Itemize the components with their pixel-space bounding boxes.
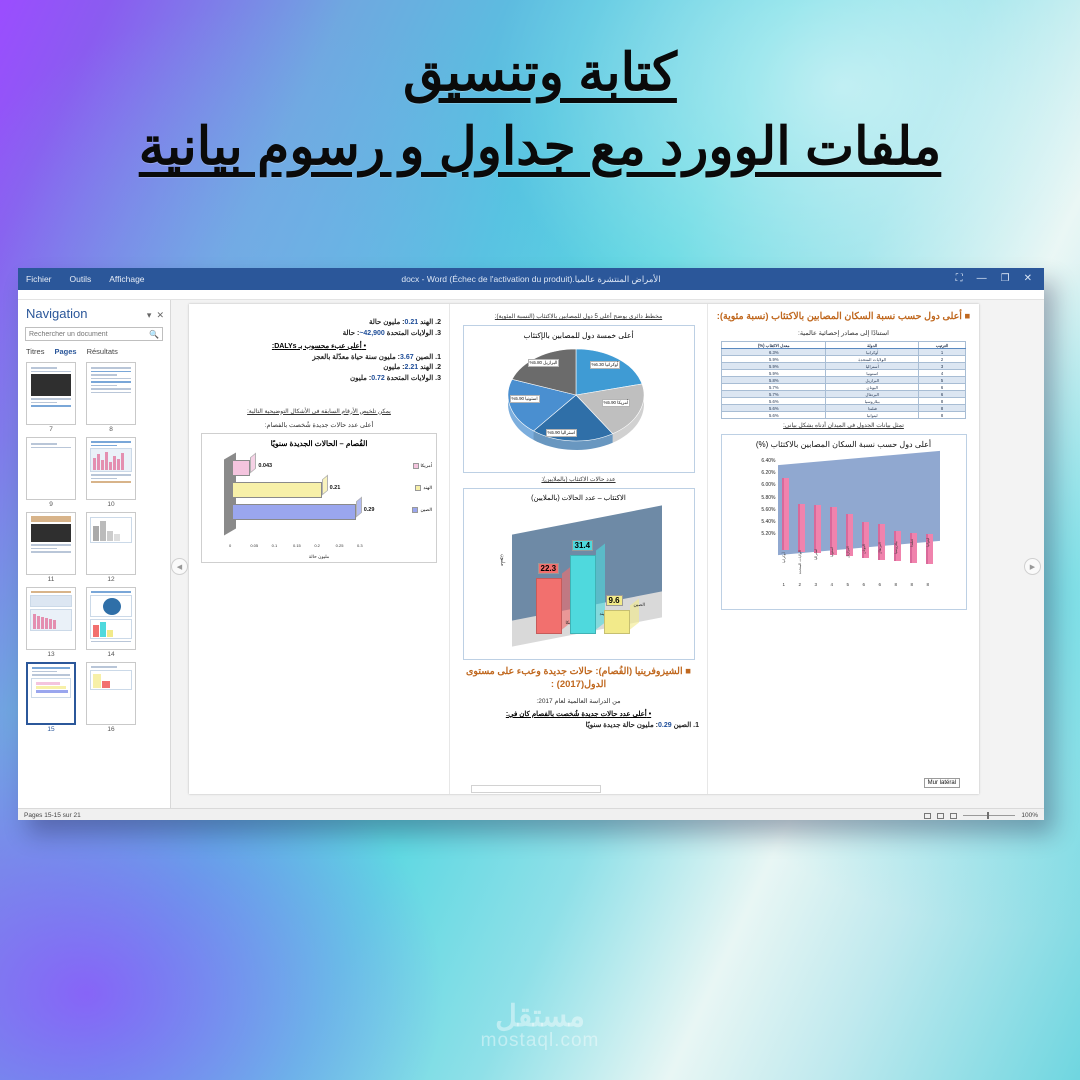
- pie-data-label: استونيا 5.90%: [510, 395, 540, 403]
- search-input[interactable]: [29, 331, 149, 338]
- x-axis-rank-label: 6: [879, 582, 882, 587]
- watermark-arabic: مستقل: [0, 999, 1080, 1034]
- x-axis-category-label: أوكرانيا: [782, 552, 786, 578]
- y-axis-tick-label: 5.20%: [738, 531, 776, 537]
- status-bar: Pages 15-15 sur 21 100%: [18, 808, 1044, 820]
- legend-label: الهند: [423, 485, 432, 491]
- legend-item: أمريكا: [413, 463, 433, 469]
- thumbnail-item-selected[interactable]: 15: [26, 662, 76, 733]
- caption-pie: مخطط دائري يوضح أعلى 5 دول للمصابين بالا…: [458, 313, 699, 320]
- pie-data-label: استراليا 5.90%: [546, 429, 578, 437]
- x-axis-rank-label: 1: [783, 582, 786, 587]
- close-pane-icon[interactable]: ✕: [156, 310, 164, 321]
- thumbnail-item[interactable]: 16: [86, 662, 136, 733]
- table-cell: 1: [919, 349, 966, 356]
- print-layout-view-icon[interactable]: [924, 813, 931, 819]
- document-column-middle: مخطط دائري يوضح أعلى 5 دول للمصابين بالا…: [449, 304, 707, 794]
- thumbnail-page-number: 7: [26, 426, 76, 433]
- table-row: 1أوكرانيا6.3%: [722, 349, 966, 356]
- x-axis-category-label: اليونان: [862, 544, 866, 570]
- thumbnail-page-number: 12: [86, 576, 136, 583]
- page-count-status: Pages 15-15 sur 21: [24, 812, 81, 819]
- menu-item-fichier[interactable]: Fichier: [26, 274, 52, 284]
- bullet-new-cases: • أعلى عدد حالات جديدة شُخصت بالفصام كان…: [458, 710, 699, 718]
- read-mode-view-icon[interactable]: [950, 813, 957, 819]
- table-cell: 5.9%: [722, 370, 826, 377]
- table-cell: اليونان: [826, 384, 919, 391]
- maximize-icon[interactable]: ❐: [1001, 274, 1010, 284]
- thumbnail-item[interactable]: 9: [26, 437, 76, 508]
- table-cell: 6: [919, 391, 966, 398]
- bar[interactable]: [814, 505, 821, 553]
- chart-title: الفُصام – الحالات الجديدة سنويًا: [202, 439, 436, 448]
- ribbon-strip: [18, 290, 1044, 300]
- x-axis-rank-label: 2: [799, 582, 802, 587]
- chart-plot-area: أوكرانيا 6.30%أمريكا 5.90%استراليا 5.90%…: [494, 343, 664, 458]
- column-category-label: الصين: [634, 602, 646, 608]
- horizontal-bar[interactable]: [232, 460, 250, 476]
- table-cell: استونيا: [826, 370, 919, 377]
- thumbnail-page-number: 11: [26, 576, 76, 583]
- table-cell: 3: [919, 363, 966, 370]
- document-page: ■ أعلى دول حسب نسبة السكان المصابين بالا…: [189, 304, 979, 794]
- list-item: 3. الولايات المتحدة 0.72: مليون: [197, 374, 441, 382]
- caption-summary: يمكن تلخيص الأرقام السابقة في الأشكال ال…: [197, 408, 441, 415]
- table-cell: 5.6%: [722, 405, 826, 412]
- column-bar[interactable]: [604, 610, 630, 634]
- pie-data-label: أوكرانيا 6.30%: [590, 361, 621, 369]
- chart-title: الاكتئاب – عدد الحالات (بالملايين): [464, 494, 694, 502]
- x-axis-category-label: فنلندا: [910, 539, 914, 565]
- table-header-cell: الترتيب: [919, 342, 966, 349]
- tab-titres[interactable]: Titres: [26, 347, 44, 356]
- table-header-cell: الدولة: [826, 342, 919, 349]
- pie-data-label: أمريكا 5.90%: [602, 399, 631, 407]
- table-cell: بيلاروسيا: [826, 398, 919, 405]
- legend-swatch: [413, 463, 419, 469]
- table-cell: 5.7%: [722, 384, 826, 391]
- x-axis-rank-label: 6: [863, 582, 866, 587]
- x-axis-category-label: الولايات المتحدة: [798, 550, 802, 576]
- x-axis-tick-label: 0.05: [250, 543, 258, 548]
- x-axis-category-label: استونيا: [830, 547, 834, 573]
- horizontal-bar[interactable]: [232, 504, 356, 520]
- window-title-bar: Fichier Outils Affichage الأمراض المنتشر…: [18, 268, 1044, 290]
- bar-data-label: 0.21: [330, 485, 341, 491]
- column-data-label: 31.4: [572, 540, 594, 551]
- top-cases-list: 2. الهند 0.21: مليون حالة 3. الولايات ال…: [197, 318, 441, 337]
- table-row: 8بيلاروسيا5.6%: [722, 398, 966, 405]
- y-axis-tick-label: 5.80%: [738, 495, 776, 501]
- next-page-button[interactable]: ▶: [1024, 558, 1041, 575]
- table-cell: 6.3%: [722, 349, 826, 356]
- horizontal-bar-side: [250, 452, 256, 473]
- x-axis-category-label: ليتوانيا: [926, 538, 930, 564]
- new-cases-list: 1. الصين 0.29: مليون حالة جديدة سنويًا: [458, 721, 699, 729]
- thumbnail-item[interactable]: 14: [86, 587, 136, 658]
- section-heading-schizophrenia: ■ الشيزوفرينيا (الفُصام): حالات جديدة وع…: [458, 665, 699, 691]
- table-row: 6اليونان5.7%: [722, 384, 966, 391]
- y-axis-tick-label: 6.20%: [738, 470, 776, 476]
- y-axis-tick-label: 6.00%: [738, 482, 776, 488]
- table-cell: 5.9%: [722, 356, 826, 363]
- x-axis-tick-label: 0.25: [336, 543, 344, 548]
- chart-schizophrenia-new-cases[interactable]: الفُصام – الحالات الجديدة سنويًا مليون ح…: [201, 433, 437, 563]
- watermark: مستقل mostaql.com: [0, 999, 1080, 1052]
- bar[interactable]: [782, 478, 789, 550]
- column-bar-face: [536, 578, 562, 634]
- chart-plot-area: 6.40%6.20%6.00%5.80%5.60%5.40%5.20%أوكرا…: [734, 452, 954, 597]
- zoom-slider[interactable]: [963, 815, 1015, 816]
- table-cell: أوكرانيا: [826, 349, 919, 356]
- pie-data-label: البرازيل 5.80%: [528, 359, 560, 367]
- x-axis-rank-label: 8: [927, 582, 930, 587]
- y-axis-tick-label: 5.40%: [738, 519, 776, 525]
- thumbnail-page-number: 10: [86, 501, 136, 508]
- close-icon[interactable]: ✕: [1024, 274, 1032, 284]
- menu-bar: Fichier Outils Affichage: [18, 268, 145, 290]
- list-item: 2. الهند 2.21: مليون: [197, 363, 441, 371]
- table-header-cell: معدل الاكتئاب (%): [722, 342, 826, 349]
- chart-plot-area: 22.3أمريكا31.4الهند9.6الصينمليون: [474, 502, 684, 652]
- table-cell: 4: [919, 370, 966, 377]
- horizontal-bar[interactable]: [232, 482, 322, 498]
- column-bar-face: [604, 610, 630, 634]
- window-controls: ⛶ — ❐ ✕: [956, 268, 1040, 290]
- thumbnail-page-number: 14: [86, 651, 136, 658]
- source-note: من الدراسة العالمية لعام 2017:: [458, 697, 699, 705]
- table-cell: 8: [919, 405, 966, 412]
- table-cell: 8: [919, 398, 966, 405]
- menu-item-affichage[interactable]: Affichage: [109, 274, 144, 284]
- legend-item: الصين: [412, 507, 432, 513]
- x-axis-tick-label: 0.2: [314, 543, 320, 548]
- chart-y-axis-label: مليون: [500, 554, 506, 566]
- search-icon[interactable]: 🔍: [149, 330, 159, 339]
- thumbnail-page-number: 8: [86, 426, 136, 433]
- x-axis-tick-label: 0.1: [272, 543, 278, 548]
- bar-data-label: 0.29: [364, 507, 375, 513]
- zoom-level: 100%: [1021, 812, 1038, 819]
- table-header-row: الترتيب الدولة معدل الاكتئاب (%): [722, 342, 966, 349]
- table-cell: ليتوانيا: [826, 412, 919, 419]
- document-column-left: ■ أعلى دول حسب نسبة السكان المصابين بالا…: [707, 304, 979, 794]
- table-cell: فنلندا: [826, 405, 919, 412]
- list-item: 1. الصين 3.67: مليون سنة حياة معدّلة بال…: [197, 353, 441, 361]
- headline-line-1: كتابة وتنسيق: [0, 42, 1080, 104]
- thumbnail-item[interactable]: 11: [26, 512, 76, 583]
- column-bar[interactable]: [570, 555, 596, 634]
- previous-page-button[interactable]: ◀: [171, 558, 188, 575]
- menu-item-outils[interactable]: Outils: [70, 274, 92, 284]
- bullet-dalys: • أعلى عبء محسوب بـ DALYs:: [197, 342, 441, 350]
- thumbnail-page-number: 15: [26, 726, 76, 733]
- x-axis-tick-label: 0.15: [293, 543, 301, 548]
- legend-item: الهند: [415, 485, 432, 491]
- chevron-down-icon[interactable]: ▾: [147, 310, 152, 321]
- window-title: الأمراض المنتشرة عالميا.docx - Word (Éch…: [18, 274, 1044, 285]
- minimize-icon[interactable]: —: [977, 274, 987, 284]
- x-axis-category-label: استراليا: [814, 549, 818, 575]
- table-cell: 6: [919, 384, 966, 391]
- thumbnail-page-number: 9: [26, 501, 76, 508]
- watermark-latin: mostaql.com: [0, 1030, 1080, 1052]
- chart-title: أعلى خمسة دول للمصابين بالإكتئاب: [464, 331, 694, 340]
- legend-swatch: [415, 485, 421, 491]
- x-axis-category-label: بيلاروسيا: [894, 541, 898, 567]
- horizontal-bar-side: [322, 474, 328, 495]
- headline-line-2: ملفات الوورد مع جداول و رسوم بيانية: [0, 116, 1080, 178]
- thumbnail-item[interactable]: 8: [86, 362, 136, 433]
- navigation-header: Navigation ▾ ✕: [18, 300, 170, 323]
- table-row: 5البرازيل5.8%: [722, 377, 966, 384]
- table-cell: الولايات المتحدة: [826, 356, 919, 363]
- table-cell: البرتغال: [826, 391, 919, 398]
- chart-x-axis-label: مليون حالة: [202, 554, 436, 560]
- bar[interactable]: [798, 504, 805, 552]
- chart-top5-depression-pie[interactable]: أعلى خمسة دول للمصابين بالإكتئاب أوكراني…: [463, 325, 695, 473]
- legend-swatch: [412, 507, 418, 513]
- section-subtext: استنادًا إلى مصادر إحصائية عالمية:: [716, 329, 971, 337]
- chart-depression-cases-columns[interactable]: الاكتئاب – عدد الحالات (بالملايين) 22.3أ…: [463, 488, 695, 660]
- horizontal-bar-side: [356, 496, 362, 517]
- column-bar[interactable]: [536, 578, 562, 634]
- list-item: 3. الولايات المتحدة 42,900~: حالة: [197, 329, 441, 337]
- x-axis-rank-label: 8: [911, 582, 914, 587]
- chart-caption: تمثل بيانات الجدول في الميدان أدناه بشكل…: [716, 422, 971, 429]
- search-box[interactable]: 🔍: [25, 327, 163, 341]
- table-cell: 5.9%: [722, 363, 826, 370]
- list-item: 1. الصين 0.29: مليون حالة جديدة سنويًا: [458, 721, 699, 729]
- x-axis-rank-label: 4: [831, 582, 834, 587]
- table-row: 6البرتغال5.7%: [722, 391, 966, 398]
- x-axis-category-label: البرتغال: [878, 542, 882, 568]
- table-cell: 5.6%: [722, 398, 826, 405]
- legend-label: أمريكا: [421, 463, 433, 469]
- thumbnail-item[interactable]: 10: [86, 437, 136, 508]
- document-column-right: 2. الهند 0.21: مليون حالة 3. الولايات ال…: [189, 304, 449, 794]
- column-bar-face: [570, 555, 596, 634]
- table-cell: 5.7%: [722, 391, 826, 398]
- table-cell: 8: [919, 412, 966, 419]
- tab-pages[interactable]: Pages: [54, 347, 76, 356]
- table-cell: 5.6%: [722, 412, 826, 419]
- x-axis-tick-label: 0: [229, 543, 231, 548]
- thumbnail-page-number: 13: [26, 651, 76, 658]
- column-data-label: 9.6: [606, 595, 623, 606]
- navigation-pane: Navigation ▾ ✕ 🔍 Titres Pages Résultats: [18, 300, 171, 808]
- table-cell: 5: [919, 377, 966, 384]
- x-axis-rank-label: 3: [815, 582, 818, 587]
- table-row: 8فنلندا5.6%: [722, 405, 966, 412]
- caption-cases: عدد حالات الاكتئاب (بالملايين):: [458, 476, 699, 483]
- chart-title: أعلى دول حسب نسبة السكان المصابين بالاكت…: [722, 439, 966, 450]
- dalys-list: 1. الصين 3.67: مليون سنة حياة معدّلة بال…: [197, 353, 441, 382]
- table-row: 2الولايات المتحدة5.9%: [722, 356, 966, 363]
- table-cell: أستراليا: [826, 363, 919, 370]
- bar-data-label: 0.043: [258, 463, 272, 469]
- navigation-tabs: Titres Pages Résultats: [18, 341, 170, 359]
- table-row: 3أستراليا5.9%: [722, 363, 966, 370]
- thumbnail-item[interactable]: 12: [86, 512, 136, 583]
- thumbnail-item[interactable]: 13: [26, 587, 76, 658]
- table-cell: 2: [919, 356, 966, 363]
- x-axis-category-label: البرازيل: [846, 546, 850, 572]
- x-axis-tick-label: 0.3: [357, 543, 363, 548]
- horizontal-scrollbar[interactable]: [471, 785, 601, 793]
- column-data-label: 22.3: [538, 563, 560, 574]
- legend-label: الصين: [420, 507, 432, 513]
- tab-resultats[interactable]: Résultats: [87, 347, 118, 356]
- chart-depression-rate-bars[interactable]: أعلى دول حسب نسبة السكان المصابين بالاكت…: [721, 434, 967, 610]
- thumbnail-page-number: 16: [86, 726, 136, 733]
- table-cell: البرازيل: [826, 377, 919, 384]
- y-axis-tick-label: 5.60%: [738, 507, 776, 513]
- promo-headline: كتابة وتنسيق ملفات الوورد مع جداول و رسو…: [0, 42, 1080, 178]
- navigation-title: Navigation: [26, 306, 87, 321]
- document-area[interactable]: ◀ ▶ ■ أعلى دول حسب نسبة السكان المصابين …: [171, 300, 1044, 808]
- word-window: Fichier Outils Affichage الأمراض المنتشر…: [18, 268, 1044, 820]
- page-thumbnail-list[interactable]: 7 8 9: [18, 359, 170, 808]
- x-axis-rank-label: 5: [847, 582, 850, 587]
- table-row: 8ليتوانيا5.6%: [722, 412, 966, 419]
- ribbon-display-icon[interactable]: ⛶: [956, 274, 963, 284]
- y-axis-tick-label: 6.40%: [738, 458, 776, 464]
- table-row: 4استونيا5.9%: [722, 370, 966, 377]
- table-cell: 5.8%: [722, 377, 826, 384]
- web-layout-view-icon[interactable]: [937, 813, 944, 819]
- caption-new-cases: أعلى عدد حالات جديدة شُخصت بالفصام:: [197, 421, 441, 429]
- x-axis-rank-label: 8: [895, 582, 898, 587]
- chart-element-tooltip: Mur latéral: [924, 778, 960, 788]
- thumbnail-item[interactable]: 7: [26, 362, 76, 433]
- section-heading-depression-rate: ■ أعلى دول حسب نسبة السكان المصابين بالا…: [716, 310, 971, 323]
- list-item: 2. الهند 0.21: مليون حالة: [197, 318, 441, 326]
- depression-rate-table: الترتيب الدولة معدل الاكتئاب (%) 1أوكران…: [721, 341, 966, 419]
